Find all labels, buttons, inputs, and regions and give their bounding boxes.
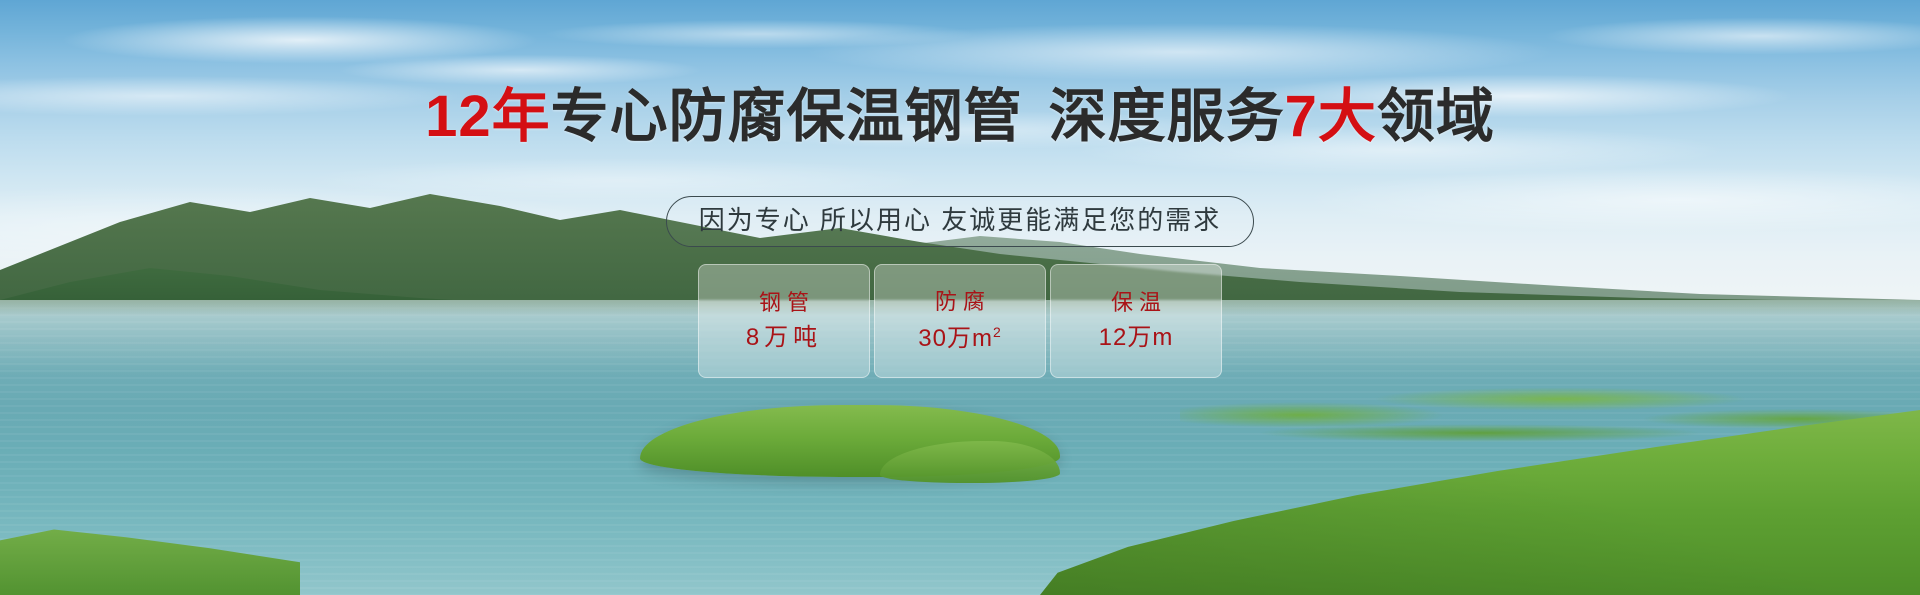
headline-fields: 领域	[1377, 84, 1495, 149]
hero-banner: 12年专心防腐保温钢管深度服务7大领域 因为专心 所以用心 友诚更能满足您的需求…	[0, 0, 1920, 595]
stat-value: 30万m2	[918, 325, 1002, 351]
stat-value-superscript: 2	[993, 324, 1002, 340]
stat-value-number: 8	[746, 324, 764, 351]
stat-card-anticorrosion[interactable]: 防腐 30万m2	[874, 264, 1046, 378]
stat-value-unit: 万吨	[764, 324, 822, 351]
stat-card-list: 钢管 8万吨 防腐 30万m2 保温 12万m	[0, 264, 1920, 378]
stat-value: 8万吨	[746, 326, 822, 350]
banner-headline: 12年专心防腐保温钢管深度服务7大领域	[0, 88, 1920, 146]
headline-service: 深度服务	[1049, 84, 1285, 149]
headline-seven: 7大	[1285, 84, 1377, 149]
stat-value-number: 30	[918, 325, 947, 352]
stat-value: 12万m	[1099, 326, 1174, 350]
stat-label: 防腐	[929, 291, 991, 313]
stat-value-unit: 万m	[947, 325, 993, 352]
banner-subtitle: 因为专心 所以用心 友诚更能满足您的需求	[666, 196, 1254, 247]
stat-value-number: 12	[1099, 324, 1128, 351]
stat-card-insulation[interactable]: 保温 12万m	[1050, 264, 1222, 378]
headline-years: 12年	[425, 84, 551, 149]
stat-value-unit: 万m	[1127, 324, 1173, 351]
stat-label: 钢管	[753, 292, 815, 314]
banner-subtitle-wrap: 因为专心 所以用心 友诚更能满足您的需求	[0, 196, 1920, 247]
stat-card-steel-pipe[interactable]: 钢管 8万吨	[698, 264, 870, 378]
banner-content: 12年专心防腐保温钢管深度服务7大领域 因为专心 所以用心 友诚更能满足您的需求…	[0, 0, 1920, 595]
stat-label: 保温	[1105, 292, 1167, 314]
headline-main: 专心防腐保温钢管	[551, 84, 1023, 149]
